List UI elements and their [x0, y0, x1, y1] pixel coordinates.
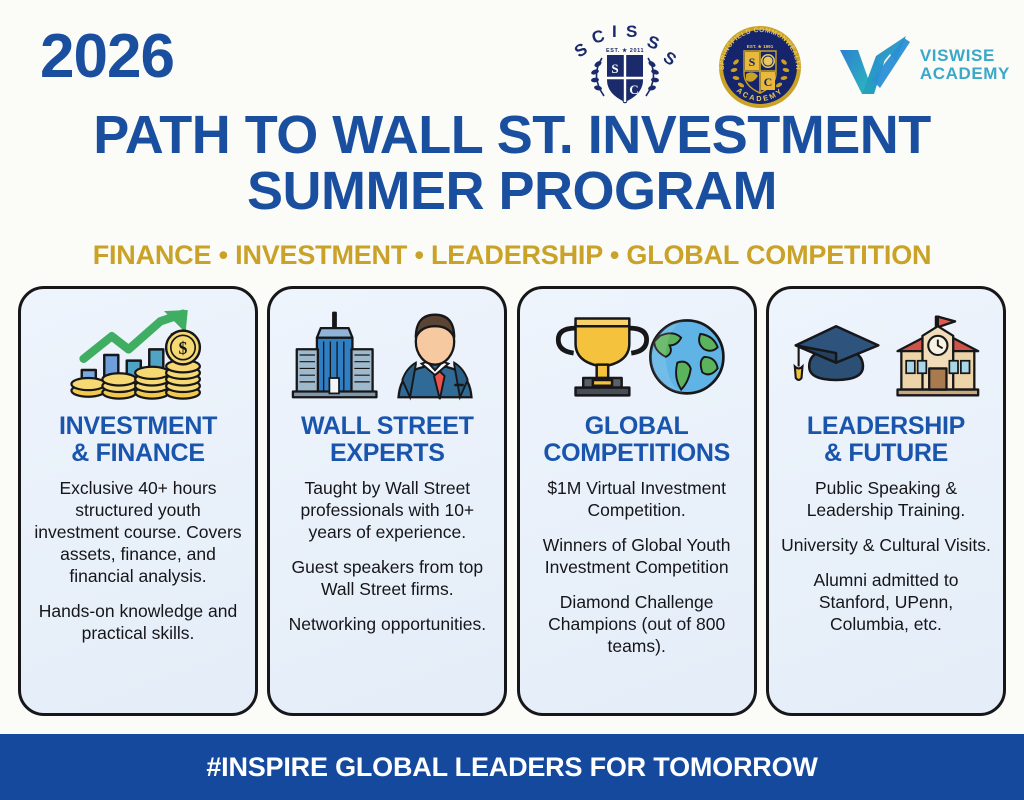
- card-paragraph: Networking opportunities.: [280, 613, 494, 635]
- card-paragraph: University & Cultural Visits.: [779, 534, 993, 556]
- card-title: WALL STREET EXPERTS: [301, 413, 474, 467]
- card-title-line1: GLOBAL: [543, 413, 730, 440]
- card-paragraph: Hands-on knowledge and practical skills.: [31, 600, 245, 644]
- feature-card-global-competitions: GLOBAL COMPETITIONS $1M Virtual Investme…: [517, 286, 757, 716]
- skyscraper-businessman-icon: [280, 303, 494, 407]
- card-title-line1: WALL STREET: [301, 413, 474, 440]
- card-title: INVESTMENT & FINANCE: [59, 413, 217, 467]
- svg-text:EST. ★ 1991: EST. ★ 1991: [747, 44, 774, 49]
- feature-card-wall-street-experts: WALL STREET EXPERTS Taught by Wall Stree…: [267, 286, 507, 716]
- card-body: Exclusive 40+ hours structured youth inv…: [31, 477, 245, 644]
- graduation-cap-school-icon: [779, 303, 993, 407]
- svg-text:EST. ★ 2011: EST. ★ 2011: [606, 47, 644, 54]
- feature-card-leadership-future: LEADERSHIP & FUTURE Public Speaking & Le…: [766, 286, 1006, 716]
- feature-card-list: $ INVESTMENT & FINANCE Exclusive 40+ hou…: [18, 286, 1006, 716]
- card-paragraph: Public Speaking & Leadership Training.: [779, 477, 993, 521]
- page-subtitle: FINANCE • INVESTMENT • LEADERSHIP • GLOB…: [0, 240, 1024, 271]
- page-title: PATH TO WALL ST. INVESTMENT SUMMER PROGR…: [0, 108, 1024, 219]
- viswise-w-arrow-icon: [836, 32, 914, 98]
- page-title-line2: SUMMER PROGRAM: [0, 164, 1024, 220]
- svg-text:S: S: [749, 55, 756, 69]
- footer-tagline: #INSPIRE GLOBAL LEADERS FOR TOMORROW: [206, 752, 817, 783]
- page-title-line1: PATH TO WALL ST. INVESTMENT: [93, 105, 931, 165]
- svg-text:S: S: [611, 61, 618, 76]
- springfield-commonwealth-academy-logo: SPRINGFIELD COMMONWEALTH ACADEMY EST. ★ …: [710, 18, 810, 112]
- card-title-line1: LEADERSHIP: [807, 413, 965, 440]
- logo-bar: S C I S S S EST. ★ 2011: [566, 18, 1010, 112]
- svg-text:I: I: [612, 22, 617, 41]
- svg-text:C: C: [629, 82, 638, 97]
- svg-text:C: C: [589, 26, 607, 48]
- card-body: Taught by Wall Street professionals with…: [280, 477, 494, 635]
- card-paragraph: $1M Virtual Investment Competition.: [530, 477, 744, 521]
- growth-chart-coins-icon: $: [31, 303, 245, 407]
- footer-banner: #INSPIRE GLOBAL LEADERS FOR TOMORROW: [0, 734, 1024, 800]
- svg-text:S: S: [660, 48, 680, 70]
- card-title: LEADERSHIP & FUTURE: [807, 413, 965, 467]
- card-paragraph: Alumni admitted to Stanford, UPenn, Colu…: [779, 569, 993, 635]
- trophy-globe-icon: [530, 303, 744, 407]
- card-paragraph: Winners of Global Youth Investment Compe…: [530, 534, 744, 578]
- card-title-line2: & FUTURE: [807, 440, 965, 467]
- card-title-line2: & FINANCE: [59, 440, 217, 467]
- viswise-academy-logo: VISWISE ACADEMY: [836, 32, 1010, 98]
- poster-root: S C I S S S EST. ★ 2011: [0, 0, 1024, 800]
- sciss-crest-logo: S C I S S S EST. ★ 2011: [566, 22, 684, 108]
- card-title: GLOBAL COMPETITIONS: [543, 413, 730, 467]
- card-paragraph: Taught by Wall Street professionals with…: [280, 477, 494, 543]
- svg-text:C: C: [764, 75, 773, 89]
- card-body: Public Speaking & Leadership Training. U…: [779, 477, 993, 635]
- viswise-logo-line2: ACADEMY: [920, 65, 1010, 83]
- year-label: 2026: [40, 26, 174, 88]
- card-title-line2: COMPETITIONS: [543, 440, 730, 467]
- viswise-logo-line1: VISWISE: [920, 47, 1010, 65]
- svg-text:S: S: [626, 22, 637, 41]
- svg-text:S: S: [571, 39, 591, 61]
- card-title-line2: EXPERTS: [301, 440, 474, 467]
- svg-text:S: S: [644, 32, 661, 54]
- svg-text:$: $: [179, 338, 188, 358]
- feature-card-investment-finance: $ INVESTMENT & FINANCE Exclusive 40+ hou…: [18, 286, 258, 716]
- card-body: $1M Virtual Investment Competition. Winn…: [530, 477, 744, 657]
- card-paragraph: Exclusive 40+ hours structured youth inv…: [31, 477, 245, 587]
- card-title-line1: INVESTMENT: [59, 413, 217, 440]
- card-paragraph: Guest speakers from top Wall Street firm…: [280, 556, 494, 600]
- card-paragraph: Diamond Challenge Champions (out of 800 …: [530, 591, 744, 657]
